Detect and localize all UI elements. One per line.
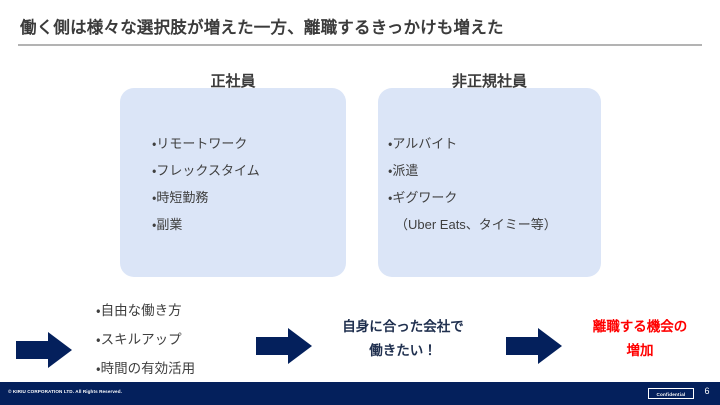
list-item-note: （Uber Eats、タイミー等） [388,211,557,238]
title-divider [18,44,702,46]
column-list-regular: ・リモートワーク ・フレックスタイム ・時短勤務 ・副業 [152,130,260,238]
list-item: ・時短勤務 [152,184,260,211]
right-arrow-icon [506,326,562,366]
page-number: 6 [700,386,714,396]
right-arrow-icon [256,326,312,366]
list-item: ・副業 [152,211,260,238]
flow-result-line-2: 増加 [570,339,710,363]
flow-wish-line-2: 働きたい！ [318,339,488,363]
page-title: 働く側は様々な選択肢が増えた一方、離職するきっかけも増えた [20,14,700,38]
column-list-nonregular: ・アルバイト ・派遣 ・ギグワーク （Uber Eats、タイミー等） [388,130,557,238]
list-item: ・時間の有効活用 [96,354,195,383]
flow-wish-text: 自身に合った会社で 働きたい！ [318,315,488,363]
list-item: ・アルバイト [388,130,557,157]
flow-wish-line-1: 自身に合った会社で [318,315,488,339]
copyright-text: © KIRIU CORPORATION LTD. All Rights Rese… [8,389,122,394]
flow-benefits-list: ・自由な働き方 ・スキルアップ ・時間の有効活用 [96,296,195,383]
flow-result-text: 離職する機会の 増加 [570,315,710,363]
confidential-badge: Confidential [648,388,694,399]
list-item: ・リモートワーク [152,130,260,157]
footer-bar: © KIRIU CORPORATION LTD. All Rights Rese… [0,382,720,405]
list-item: ・フレックスタイム [152,157,260,184]
right-arrow-icon [16,330,72,370]
list-item: ・自由な働き方 [96,296,195,325]
list-item: ・スキルアップ [96,325,195,354]
list-item: ・派遣 [388,157,557,184]
flow-result-line-1: 離職する機会の [570,315,710,339]
list-item: ・ギグワーク [388,184,557,211]
slide-canvas: 働く側は様々な選択肢が増えた一方、離職するきっかけも増えた 正社員 ・リモートワ… [0,0,720,405]
